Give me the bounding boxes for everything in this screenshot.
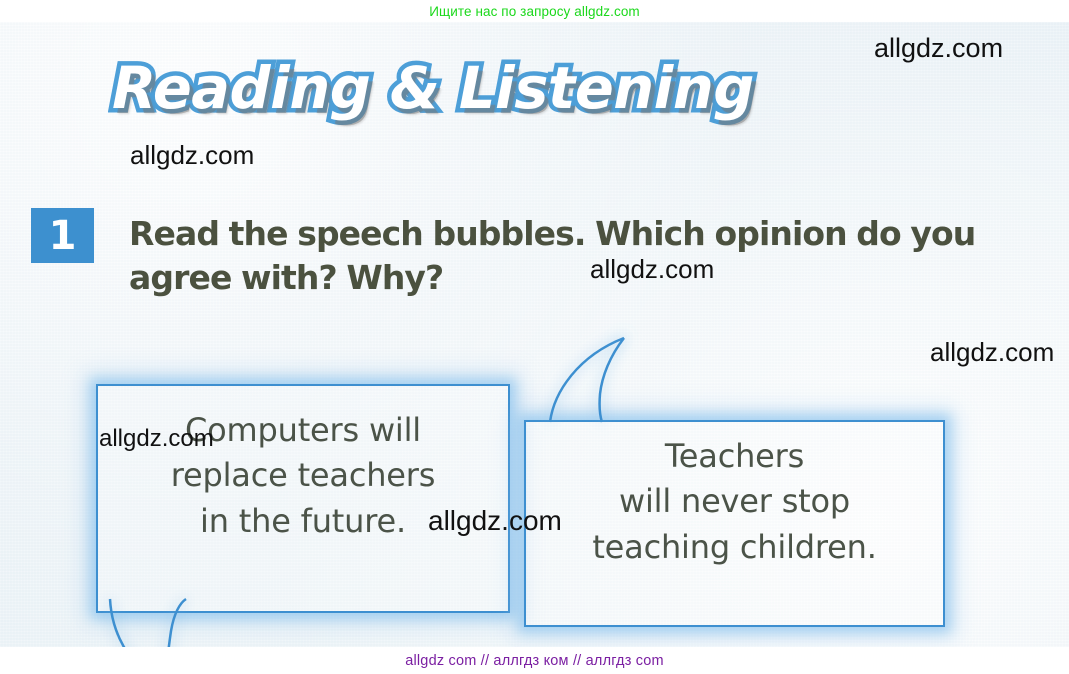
watermark: allgdz.com <box>874 33 1003 64</box>
bottom-promo-text: allgdz com // аллгдз ком // аллгдз com <box>405 653 664 669</box>
exercise-instruction: Read the speech bubbles. Which opinion d… <box>129 212 1029 299</box>
watermark: allgdz.com <box>99 425 214 453</box>
exercise-number-badge: 1 <box>31 208 94 263</box>
bottom-promo-banner: allgdz com // аллгдз ком // аллгдз com <box>0 647 1069 674</box>
speech-bubble-right-text: Teachers will never stop teaching childr… <box>526 434 943 570</box>
textbook-page: Reading & Listening 1 Read the speech bu… <box>0 22 1069 647</box>
speech-bubble-right: Teachers will never stop teaching childr… <box>524 420 945 627</box>
speech-bubble-left: Computers will replace teachers in the f… <box>96 384 510 613</box>
watermark: allgdz.com <box>428 505 562 537</box>
top-promo-banner: Ищите нас по запросу allgdz.com <box>0 0 1069 22</box>
top-promo-text: Ищите нас по запросу allgdz.com <box>429 4 640 19</box>
watermark: allgdz.com <box>930 337 1054 368</box>
speech-bubble-right-tail-icon <box>548 330 658 430</box>
page-title: Reading & Listening <box>112 54 754 122</box>
watermark: allgdz.com <box>130 140 254 171</box>
watermark: allgdz.com <box>590 254 714 285</box>
